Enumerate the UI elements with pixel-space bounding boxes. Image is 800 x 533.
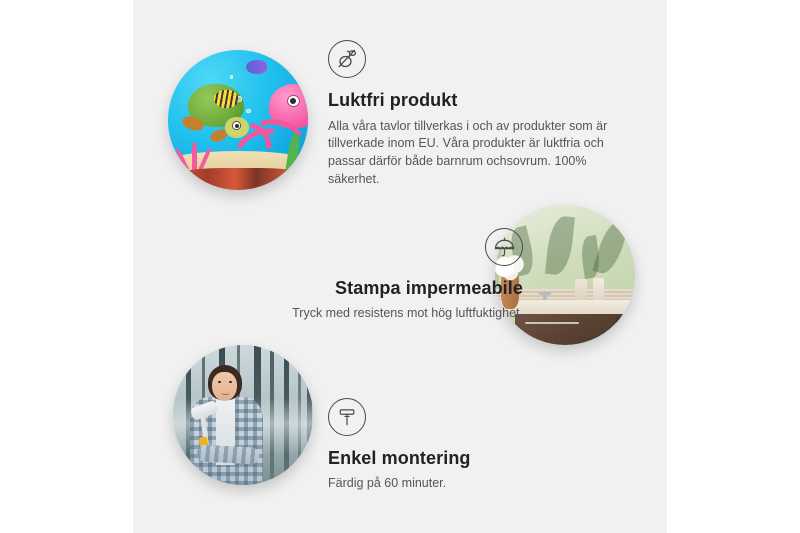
feature-title: Stampa impermeabile (193, 277, 523, 300)
infographic-page: Luktfri produkt Alla våra tavlor tillver… (0, 0, 800, 533)
coral (174, 131, 216, 173)
underwater-scene (168, 50, 308, 190)
wooden-vanity (515, 314, 635, 345)
sea-rocks (168, 168, 308, 190)
umbrella-icon (485, 228, 523, 266)
bubble-icon (246, 109, 250, 113)
bubble-icon (230, 75, 234, 79)
feature-description: Tryck med resistens mot hög luftfuktighe… (193, 305, 523, 323)
feature-easy-mounting: Enkel montering Färdig på 60 minuter. (328, 398, 628, 492)
fish-purple (246, 60, 267, 74)
feature-description: Färdig på 60 minuter. (328, 475, 628, 493)
crossed-arm (196, 444, 258, 464)
photo-woman-paint-roller-forest (173, 345, 313, 485)
photo-underwater-kids-mural (168, 50, 308, 190)
octopus-eye (287, 95, 300, 108)
feature-description: Alla våra tavlor tillverkas i och av pro… (328, 118, 616, 189)
feature-title: Luktfri produkt (328, 89, 628, 112)
content-canvas: Luktfri produkt Alla våra tavlor tillver… (133, 0, 667, 533)
feature-odorless: Luktfri produkt Alla våra tavlor tillver… (328, 40, 628, 189)
feature-waterproof: Stampa impermeabile Tryck med resistens … (193, 228, 523, 322)
paint-roller-icon (328, 398, 366, 436)
fish-striped (214, 90, 238, 108)
no-odor-spray-icon (328, 40, 366, 78)
installer-scene (173, 345, 313, 485)
feature-title: Enkel montering (328, 447, 628, 470)
